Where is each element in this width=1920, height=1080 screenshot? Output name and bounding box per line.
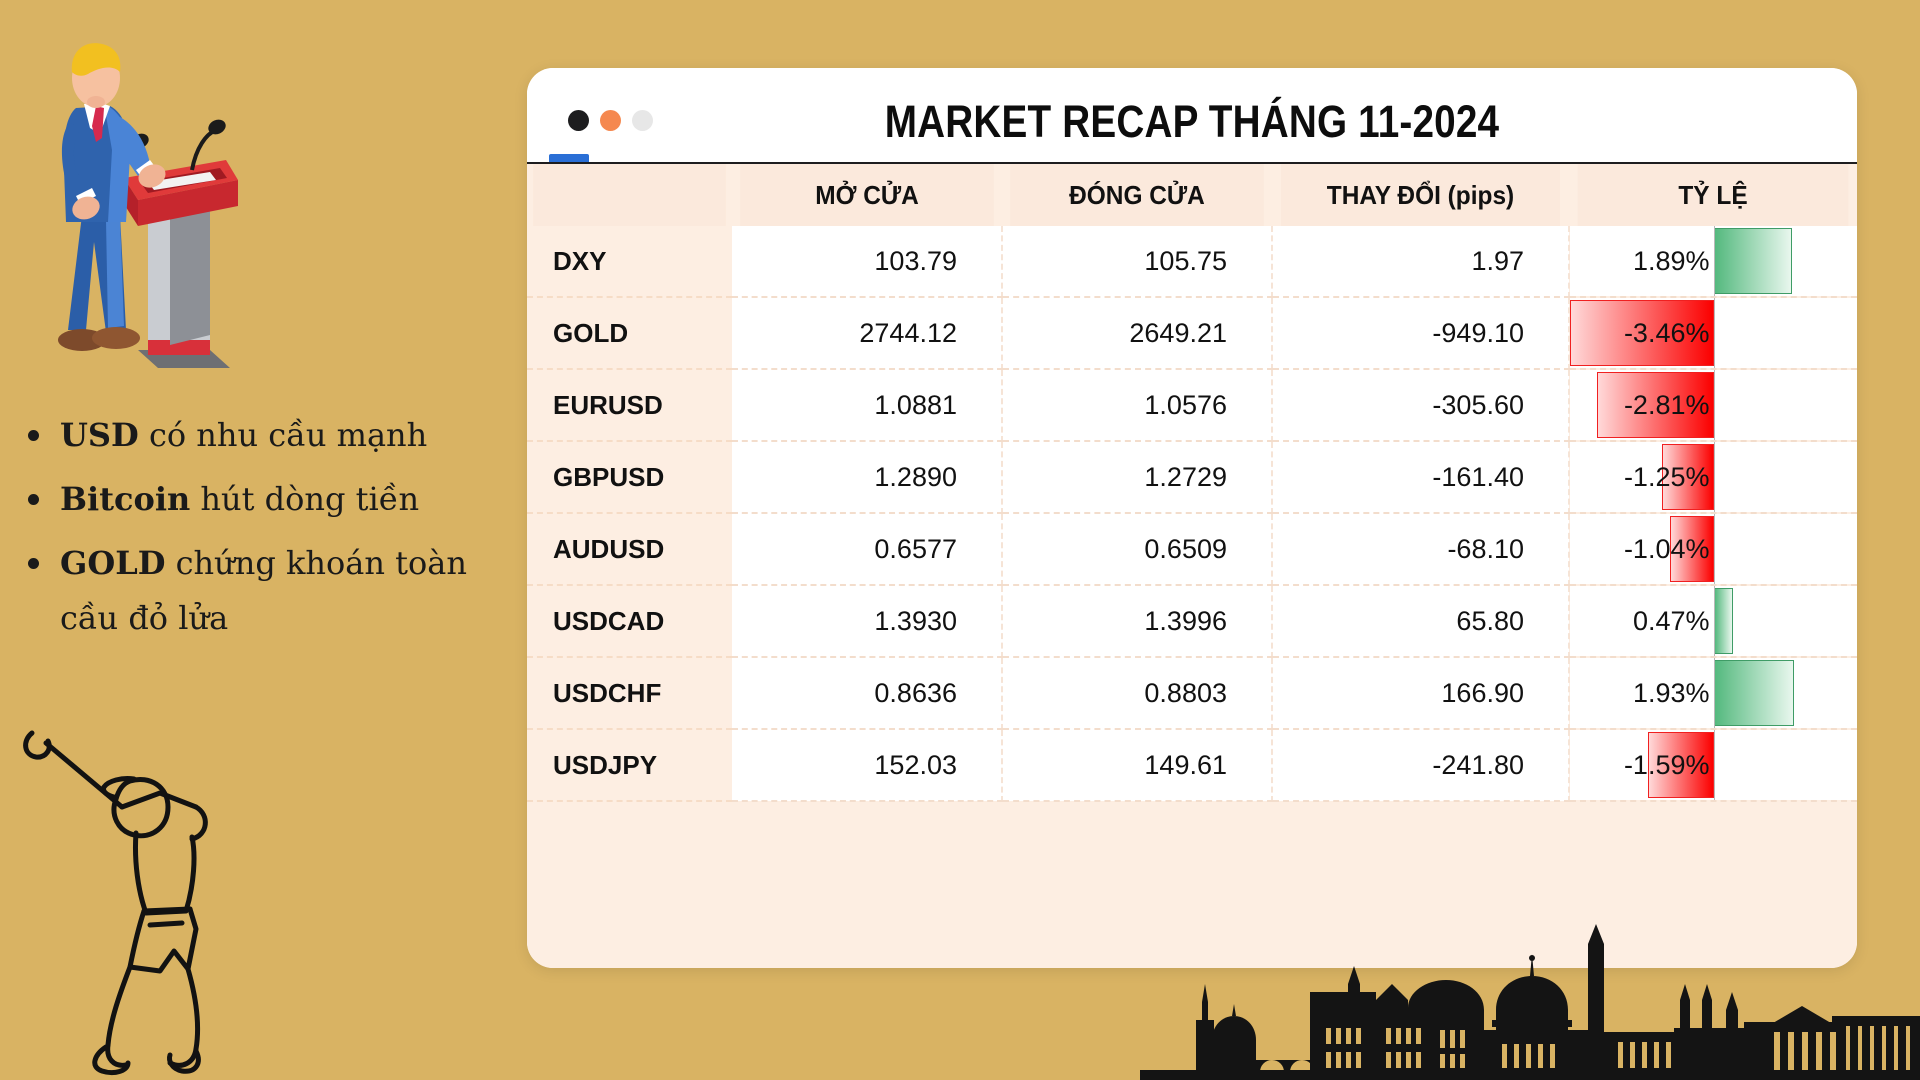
cell-rate: -1.04% xyxy=(1569,513,1857,585)
rate-value-label: -3.46% xyxy=(1624,298,1714,368)
rate-databar: 1.93% xyxy=(1570,658,1857,728)
rate-bar-positive xyxy=(1714,588,1733,654)
table-footer-space xyxy=(527,802,1857,968)
rate-value-label: -1.25% xyxy=(1624,442,1714,512)
highlight-keyword: GOLD xyxy=(60,544,165,582)
sheet-tab-sliver xyxy=(549,154,589,162)
cell-open: 0.8636 xyxy=(732,657,1002,729)
list-item: GOLD chứng khoán toàn cầu đỏ lửa xyxy=(14,536,519,646)
column-header-rate[interactable]: TỶ LỆ xyxy=(1578,164,1849,226)
cell-close: 105.75 xyxy=(1002,226,1272,297)
databar-zero-axis xyxy=(1714,730,1715,800)
cell-change: -305.60 xyxy=(1272,369,1569,441)
table-row[interactable]: EURUSD1.08811.0576-305.60-2.81% xyxy=(527,369,1857,441)
cell-close: 1.0576 xyxy=(1002,369,1272,441)
left-panel: USD có nhu cầu mạnh Bitcoin hút dòng tiề… xyxy=(0,0,530,1080)
window-dot-close-icon[interactable] xyxy=(568,110,589,131)
rate-databar: -2.81% xyxy=(1570,370,1857,440)
databar-zero-axis xyxy=(1714,442,1715,512)
highlight-text: có nhu cầu mạnh xyxy=(139,416,427,454)
cell-rate: -2.81% xyxy=(1569,369,1857,441)
table-row[interactable]: GOLD2744.122649.21-949.10-3.46% xyxy=(527,297,1857,369)
politician-at-podium-illustration xyxy=(20,30,290,390)
cell-close: 149.61 xyxy=(1002,729,1272,801)
cell-open: 1.2890 xyxy=(732,441,1002,513)
cell-symbol: DXY xyxy=(527,226,732,297)
highlight-keyword: Bitcoin xyxy=(60,480,190,518)
cell-symbol: USDCHF xyxy=(527,657,732,729)
rate-databar: -1.25% xyxy=(1570,442,1857,512)
rate-value-label: -1.04% xyxy=(1624,514,1714,584)
card-titlebar: MARKET RECAP THÁNG 11-2024 xyxy=(527,68,1857,164)
rate-value-label: 0.47% xyxy=(1633,586,1714,656)
cell-change: -68.10 xyxy=(1272,513,1569,585)
cell-symbol: EURUSD xyxy=(527,369,732,441)
column-header-open[interactable]: MỞ CỬA xyxy=(740,164,994,226)
cell-close: 0.6509 xyxy=(1002,513,1272,585)
table-row[interactable]: USDJPY152.03149.61-241.80-1.59% xyxy=(527,729,1857,801)
cell-close: 1.2729 xyxy=(1002,441,1272,513)
cell-close: 1.3996 xyxy=(1002,585,1272,657)
page-title: MARKET RECAP THÁNG 11-2024 xyxy=(620,96,1764,148)
rate-databar: -1.04% xyxy=(1570,514,1857,584)
cell-rate: 0.47% xyxy=(1569,585,1857,657)
table-header: MỞ CỬA ĐÓNG CỬA THAY ĐỔI (pips) TỶ LỆ xyxy=(527,164,1857,226)
browser-card: MARKET RECAP THÁNG 11-2024 MỞ CỬA ĐÓNG C… xyxy=(527,68,1857,968)
rate-value-label: 1.89% xyxy=(1633,226,1714,296)
column-header-change[interactable]: THAY ĐỔI (pips) xyxy=(1281,164,1560,226)
cell-open: 2744.12 xyxy=(732,297,1002,369)
table-row[interactable]: USDCHF0.86360.8803166.901.93% xyxy=(527,657,1857,729)
table-body: DXY103.79105.751.971.89%GOLD2744.122649.… xyxy=(527,226,1857,801)
highlight-text: hút dòng tiền xyxy=(190,480,419,518)
highlight-keyword: USD xyxy=(60,416,139,454)
cell-symbol: USDJPY xyxy=(527,729,732,801)
list-item: USD có nhu cầu mạnh xyxy=(14,408,519,463)
databar-zero-axis xyxy=(1714,370,1715,440)
cell-change: -949.10 xyxy=(1272,297,1569,369)
rate-databar: 1.89% xyxy=(1570,226,1857,296)
databar-zero-axis xyxy=(1714,658,1715,728)
cell-rate: -1.25% xyxy=(1569,441,1857,513)
rate-databar: -3.46% xyxy=(1570,298,1857,368)
table-row[interactable]: USDCAD1.39301.399665.800.47% xyxy=(527,585,1857,657)
rate-bar-positive xyxy=(1714,228,1792,294)
rate-bar-positive xyxy=(1714,660,1794,726)
databar-zero-axis xyxy=(1714,298,1715,368)
cell-close: 0.8803 xyxy=(1002,657,1272,729)
window-dot-minimize-icon[interactable] xyxy=(600,110,621,131)
table-row[interactable]: GBPUSD1.28901.2729-161.40-1.25% xyxy=(527,441,1857,513)
cell-open: 1.0881 xyxy=(732,369,1002,441)
databar-zero-axis xyxy=(1714,586,1715,656)
rate-value-label: -2.81% xyxy=(1624,370,1714,440)
table-header-row: MỞ CỬA ĐÓNG CỬA THAY ĐỔI (pips) TỶ LỆ xyxy=(527,164,1857,226)
rate-databar: -1.59% xyxy=(1570,730,1857,800)
cell-change: 166.90 xyxy=(1272,657,1569,729)
cell-symbol: USDCAD xyxy=(527,585,732,657)
rate-value-label: 1.93% xyxy=(1633,658,1714,728)
column-header-close[interactable]: ĐÓNG CỬA xyxy=(1010,164,1264,226)
cell-open: 0.6577 xyxy=(732,513,1002,585)
table-row[interactable]: DXY103.79105.751.971.89% xyxy=(527,226,1857,297)
cell-rate: 1.93% xyxy=(1569,657,1857,729)
databar-zero-axis xyxy=(1714,514,1715,584)
market-recap-table: MỞ CỬA ĐÓNG CỬA THAY ĐỔI (pips) TỶ LỆ DX… xyxy=(527,164,1857,802)
cell-rate: -1.59% xyxy=(1569,729,1857,801)
cell-close: 2649.21 xyxy=(1002,297,1272,369)
cell-change: -241.80 xyxy=(1272,729,1569,801)
databar-zero-axis xyxy=(1714,226,1715,296)
table-row[interactable]: AUDUSD0.65770.6509-68.10-1.04% xyxy=(527,513,1857,585)
cell-change: 1.97 xyxy=(1272,226,1569,297)
cell-symbol: GOLD xyxy=(527,297,732,369)
cell-open: 103.79 xyxy=(732,226,1002,297)
cell-rate: -3.46% xyxy=(1569,297,1857,369)
cell-symbol: AUDUSD xyxy=(527,513,732,585)
cell-symbol: GBPUSD xyxy=(527,441,732,513)
cell-rate: 1.89% xyxy=(1569,226,1857,297)
cell-open: 1.3930 xyxy=(732,585,1002,657)
cell-open: 152.03 xyxy=(732,729,1002,801)
highlights-list: USD có nhu cầu mạnh Bitcoin hút dòng tiề… xyxy=(14,408,519,655)
golfer-swing-illustration xyxy=(10,715,300,1080)
cell-change: -161.40 xyxy=(1272,441,1569,513)
cell-change: 65.80 xyxy=(1272,585,1569,657)
list-item: Bitcoin hút dòng tiền xyxy=(14,472,519,527)
rate-value-label: -1.59% xyxy=(1624,730,1714,800)
rate-databar: 0.47% xyxy=(1570,586,1857,656)
column-header-symbol[interactable] xyxy=(533,164,726,226)
